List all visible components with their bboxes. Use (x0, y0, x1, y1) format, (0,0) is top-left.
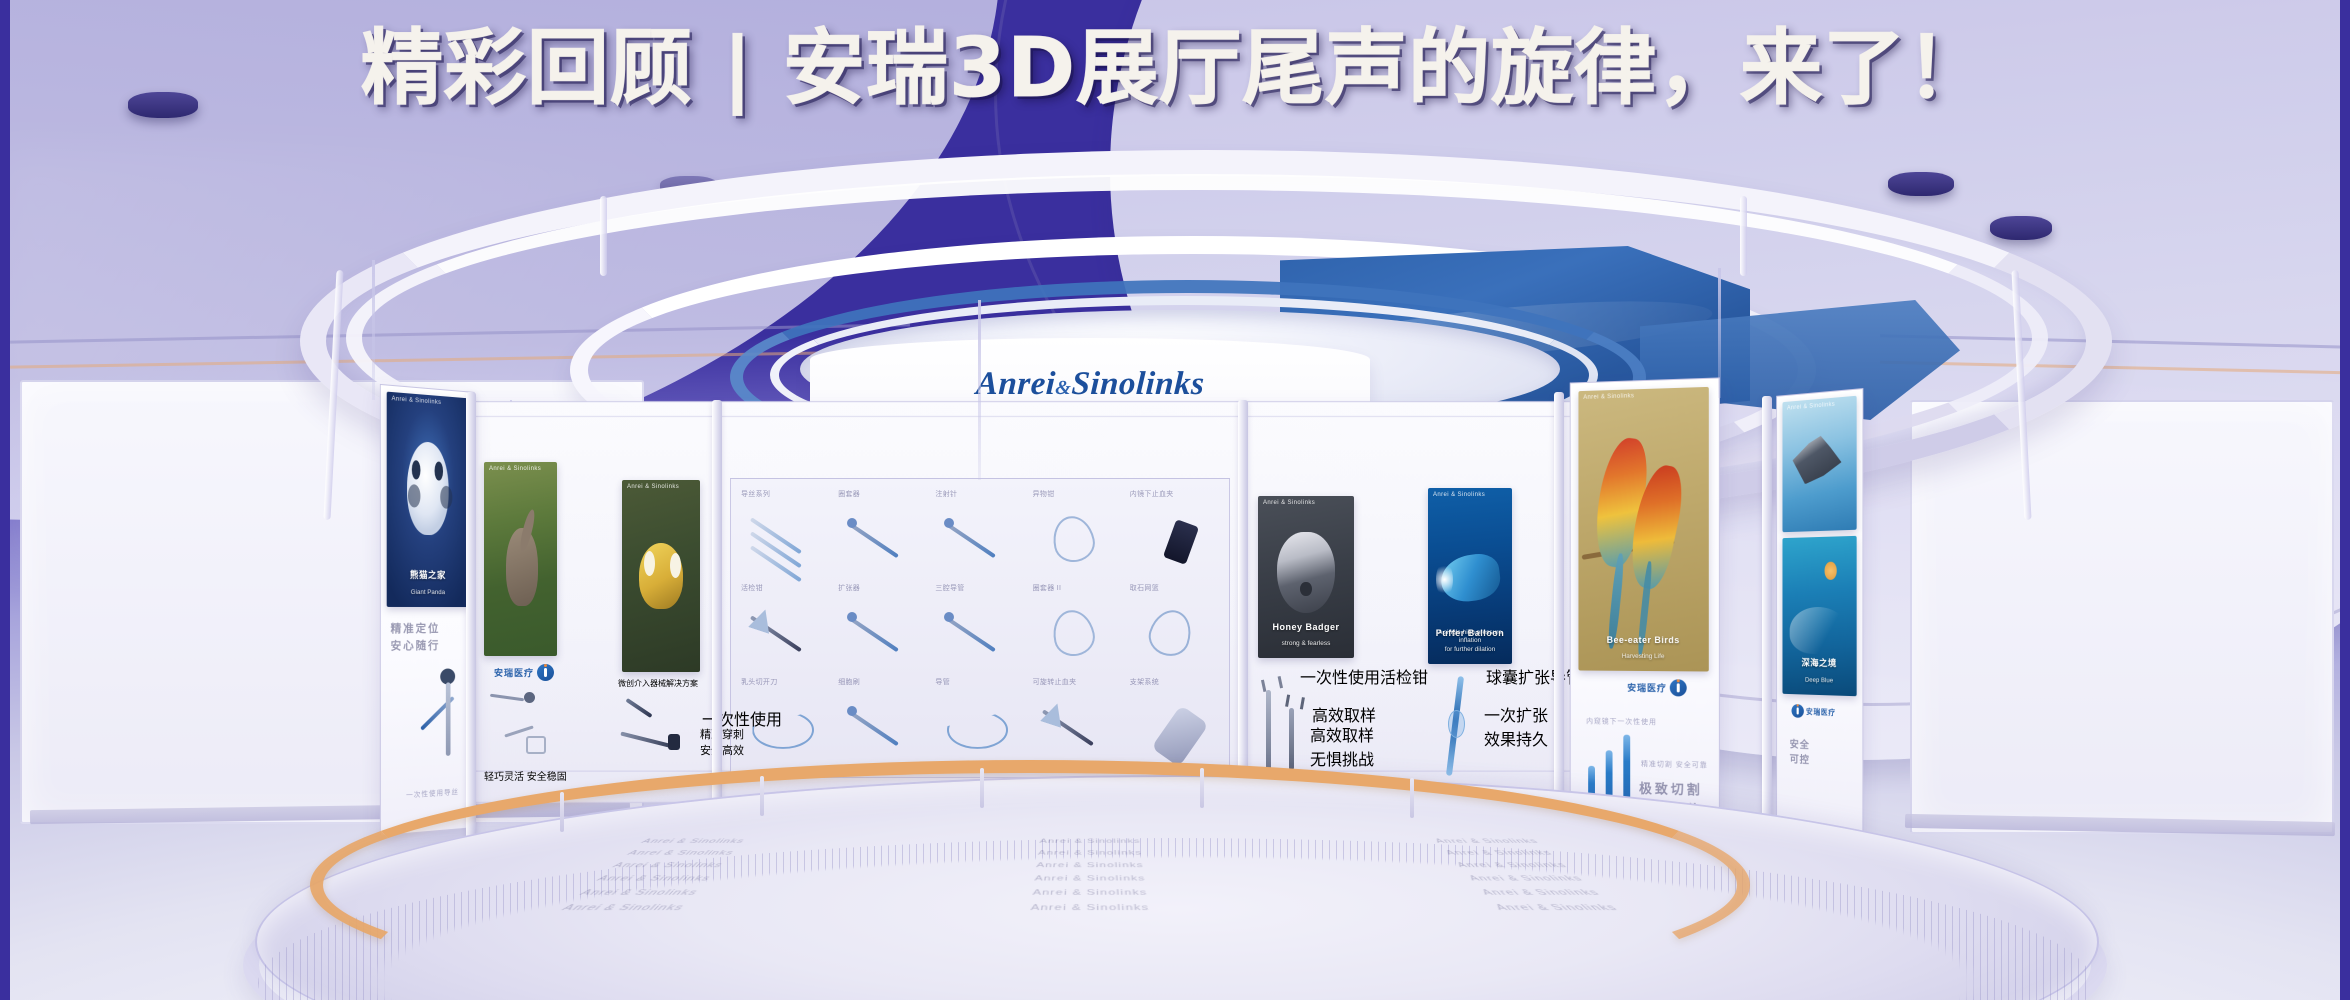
instrument-cell[interactable]: 导管 (931, 675, 1028, 769)
poster-title-panda: 熊猫之家 (387, 567, 468, 581)
caption-whale: 一次扩张 效果持久 (1484, 702, 1548, 750)
instrument-glyph (941, 699, 1013, 757)
poster-title-sea: 深海之境 (1782, 655, 1856, 669)
instrument-cell[interactable]: 可旋转止血夹 (1029, 675, 1126, 769)
instrument-label: 细胞刷 (838, 677, 860, 687)
poster-brand-panda: Anrei & Sinolinks (392, 396, 442, 406)
instrument-cell[interactable]: 异物钳 (1029, 487, 1126, 581)
brand-mark-label-birds: 安瑞医疗 (1627, 681, 1667, 694)
poster-title-badger: Honey Badger (1258, 622, 1354, 632)
poster-brand-frog: Anrei & Sinolinks (627, 484, 679, 490)
rail-post-1 (560, 792, 564, 832)
instrument-illustration-frog (618, 700, 694, 780)
poster-title-birds: Bee-eater Birds (1578, 635, 1708, 645)
instrument-illustration-deer (486, 688, 556, 764)
brand-mark-sea: 安瑞医疗 (1791, 704, 1835, 719)
instrument-glyph (1038, 511, 1110, 569)
instrument-illustration-badger (1256, 678, 1304, 774)
poster-birds: Anrei & Sinolinks Bee-eater Birds Harves… (1578, 387, 1708, 672)
poster-subtitle-badger: strong & fearless (1258, 640, 1354, 649)
poster-subtitle-birds: Harvesting Life (1578, 653, 1708, 663)
instrument-label: 注射针 (935, 489, 957, 499)
instrument-label: 活检钳 (741, 583, 763, 593)
instrument-cell[interactable]: 内镜下止血夹 (1126, 487, 1223, 581)
page-title: 精彩回顾 | 安瑞3D展厅尾声的旋律，来了！ (361, 26, 1989, 113)
instrument-cell[interactable]: 圈套器 II (1029, 581, 1126, 675)
ceiling-hanger-2 (1718, 268, 1721, 398)
instrument-glyph (844, 511, 916, 569)
poster-brand-whale: Anrei & Sinolinks (1433, 492, 1485, 498)
brand-mark-label-sea: 安瑞医疗 (1806, 706, 1836, 718)
instrument-label: 扩张器 (838, 583, 860, 593)
instrument-label: 乳头切开刀 (741, 677, 778, 687)
rig-strut-a (600, 196, 607, 276)
instrument-label: 导管 (935, 677, 950, 687)
instrument-glyph (941, 605, 1013, 663)
instrument-label: 取石网篮 (1130, 583, 1159, 593)
rail-post-4 (1200, 768, 1204, 808)
caption-badger: 高效取样 无惧挑战 (1310, 722, 1374, 770)
caption-deer: 轻巧灵活 安全稳固 (484, 768, 567, 783)
caption-birds-tag: 内窥镜下一次性使用 (1586, 716, 1657, 727)
brand-name-left: Anrei (975, 366, 1056, 402)
instrument-cell[interactable]: 细胞刷 (834, 675, 931, 769)
brand-name-right: Sinolinks (1070, 366, 1205, 402)
support-post-4 (1554, 392, 1564, 842)
caption-whale-small: 球囊扩张导管 (1486, 664, 1582, 688)
instrument-cell[interactable]: 取石网篮 (1126, 581, 1223, 675)
instrument-glyph (1136, 699, 1208, 757)
caption-panda-small: 一次性使用导丝 (406, 787, 459, 801)
instrument-illustration-panda (419, 664, 466, 765)
instrument-cell[interactable]: 导丝系列 (737, 487, 834, 581)
brand-ampersand: & (1055, 377, 1072, 399)
instrument-cell[interactable]: 扩张器 (834, 581, 931, 675)
instrument-glyph (1038, 699, 1110, 757)
instrument-cell[interactable]: 注射针 (931, 487, 1028, 581)
rail-post-2 (760, 776, 764, 816)
instrument-label: 支架系统 (1130, 677, 1159, 687)
brand-mark-label-deer: 安瑞医疗 (494, 666, 534, 679)
poster-title-eagle (1782, 503, 1856, 506)
support-post-5 (1762, 396, 1772, 836)
instrument-glyph (1136, 605, 1208, 663)
poster-brand-eagle: Anrei & Sinolinks (1787, 402, 1835, 412)
orange-accent-rail (310, 760, 1750, 1000)
poster-badger[interactable]: Anrei & Sinolinks Honey Badger strong & … (1258, 496, 1354, 658)
instrument-label: 圈套器 II (1033, 583, 1062, 593)
brand-logo-text: Anrei&Sinolinks (975, 366, 1205, 403)
brand-dot-icon-birds (1670, 679, 1687, 696)
instrument-display-board[interactable]: 导丝系列圈套器注射针异物钳内镜下止血夹活检钳扩张器三腔导管圈套器 II取石网篮乳… (730, 478, 1230, 778)
rail-post-5 (1410, 778, 1414, 818)
poster-brand-birds: Anrei & Sinolinks (1583, 393, 1634, 401)
instrument-glyph (1136, 511, 1208, 569)
poster-panda: Anrei & Sinolinks 熊猫之家 Giant Panda (387, 392, 468, 607)
instrument-illustration-whale (1440, 676, 1476, 778)
instrument-cell[interactable]: 三腔导管 (931, 581, 1028, 675)
instrument-label: 导丝系列 (741, 489, 770, 499)
poster-sea: 深海之境 Deep Blue (1782, 536, 1856, 696)
instrument-label: 三腔导管 (935, 583, 964, 593)
poster-eagle: Anrei & Sinolinks (1782, 396, 1856, 532)
ceiling-hanger-3 (978, 300, 981, 480)
instrument-cell[interactable]: 支架系统 (1126, 675, 1223, 769)
caption-frog-top: 微创介入器械解决方案 (618, 678, 698, 689)
poster-deer[interactable]: Anrei & Sinolinks (484, 462, 557, 656)
caption-panda: 精准定位 安心随行 (391, 621, 441, 655)
panel-panda[interactable]: Anrei & Sinolinks 熊猫之家 Giant Panda 精准定位 … (380, 384, 475, 836)
instrument-glyph (844, 605, 916, 663)
brand-mark-birds: 安瑞医疗 (1627, 679, 1686, 697)
rail-post-3 (980, 768, 984, 808)
brand-dot-icon-deer (537, 664, 554, 681)
instrument-glyph (747, 605, 819, 663)
support-post-2 (712, 400, 722, 830)
ceiling-hanger-1 (372, 260, 375, 400)
poster-brand-deer: Anrei & Sinolinks (489, 466, 541, 472)
poster-whale[interactable]: Anrei & Sinolinks Puffer Balloon A singl… (1428, 488, 1512, 664)
panel-sea[interactable]: Anrei & Sinolinks 深海之境 Deep Blue 安瑞医疗 安全… (1776, 388, 1863, 838)
instrument-glyph (844, 699, 916, 757)
poster-brand-badger: Anrei & Sinolinks (1263, 500, 1315, 506)
poster-subtitle-whale: A single high pressure inflation for fur… (1428, 629, 1512, 655)
brand-mark-deer: 安瑞医疗 (494, 664, 554, 681)
caption-frog: 精准穿刺 安全高效 (700, 726, 744, 758)
caption-sea: 安全 可控 (1790, 738, 1810, 769)
instrument-cell[interactable]: 圈套器 (834, 487, 931, 581)
instrument-label: 异物钳 (1033, 489, 1055, 499)
brand-dot-icon-sea (1791, 704, 1803, 718)
panel-birds[interactable]: Anrei & Sinolinks Bee-eater Birds Harves… (1570, 377, 1720, 854)
frame-edge-left (0, 0, 10, 1000)
support-post-1 (466, 392, 476, 842)
instrument-glyph (747, 511, 819, 569)
instrument-cell[interactable]: 活检钳 (737, 581, 834, 675)
rig-strut-b (1740, 196, 1747, 276)
instrument-label: 可旋转止血夹 (1033, 677, 1077, 687)
instrument-label: 内镜下止血夹 (1130, 489, 1174, 499)
poster-subtitle-panda: Giant Panda (387, 589, 468, 598)
caption-birds-small: 精准切割 安全可靠 (1641, 759, 1708, 770)
exhibition-hall-banner: Anrei&Sinolinks Keep Safe Keep Life 导丝系列… (0, 0, 2350, 1000)
instrument-label: 圈套器 (838, 489, 860, 499)
poster-subtitle-sea: Deep Blue (1782, 676, 1856, 687)
frame-edge-right (2340, 0, 2350, 1000)
instrument-glyph (941, 511, 1013, 569)
banner-title-area: 精彩回顾 | 安瑞3D展厅尾声的旋律，来了！ (0, 26, 2350, 113)
instrument-glyph (1038, 605, 1110, 663)
caption-badger-small: 一次性使用活检钳 (1300, 664, 1428, 688)
poster-frog[interactable]: Anrei & Sinolinks (622, 480, 700, 672)
